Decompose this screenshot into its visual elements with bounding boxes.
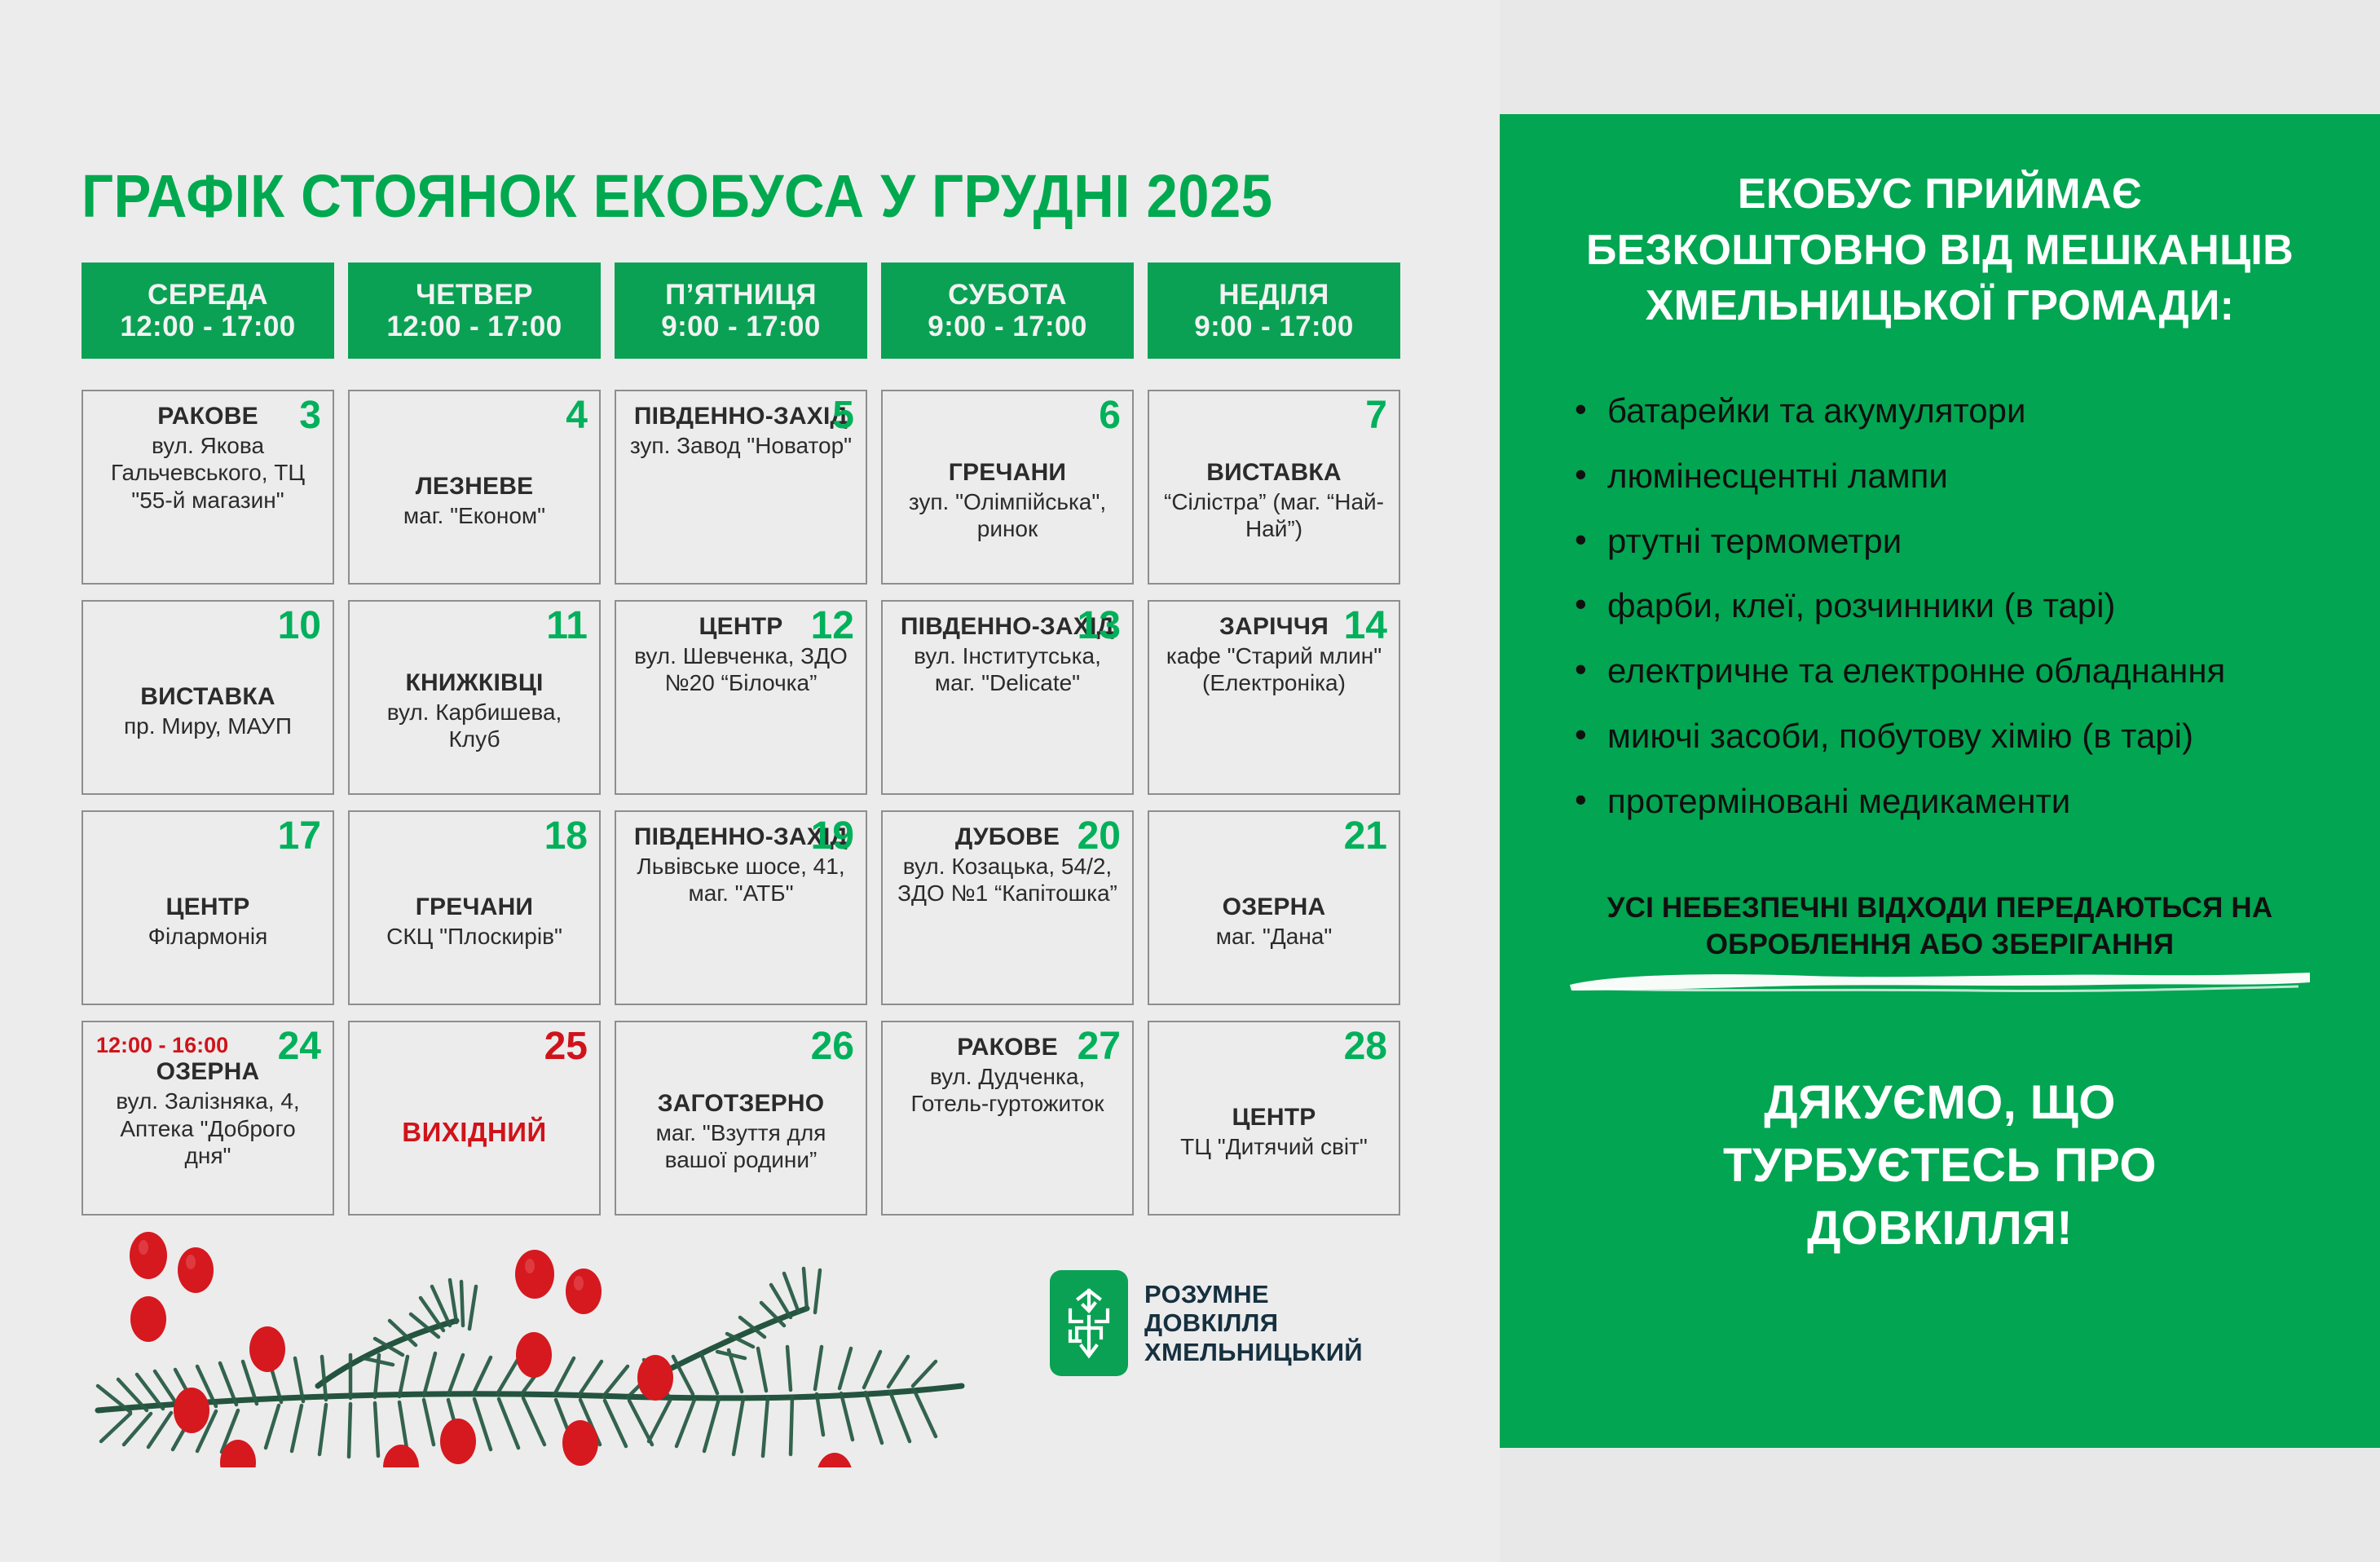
panel-heading-line-2: БЕЗКОШТОВНО ВІД МЕШКАНЦІВ [1547,223,2333,279]
logo-line-2: Довкілля [1144,1308,1363,1337]
cell-address: СКЦ "Плоскирів" [386,923,562,951]
calendar-cell-day-11[interactable]: 11КНИЖКІВЦІвул. Карбишева, Клуб [348,600,601,795]
calendar-cell-day-14[interactable]: 14ЗАРІЧЧЯкафе "Старий млин" (Електроніка… [1148,600,1400,795]
cell-address: вул. Дудченка, Готель-гуртожиток [896,1063,1119,1118]
logo-line-3: Хмельницький [1144,1338,1363,1366]
thanks-line-3: ДОВКІЛЛЯ! [1547,1197,2333,1260]
cell-address: вул. Шевченка, ЗДО №20 “Білочка” [629,642,853,697]
accepted-waste-item: миючі засоби, побутову хімію (в тарі) [1575,710,2333,762]
cell-day-number: 26 [811,1027,854,1066]
cell-district-name: ВИСТАВКА [140,683,275,711]
cell-district-name: ЦЕНТР [699,613,783,641]
cell-address: вул. Інститутська, маг. "Delicate" [896,642,1119,697]
cell-address: Філармонія [148,923,268,951]
cell-day-number: 3 [299,396,321,435]
day-header-name: П’ЯТНИЦЯ [665,279,817,311]
cell-address: “Сілістра” (маг. “Най-Най”) [1162,488,1386,543]
calendar-cell-day-19[interactable]: 19ПІВДЕННО-ЗАХІДЛьвівське шосе, 41, маг.… [615,810,867,1005]
day-header-name: ЧЕТВЕР [416,279,533,311]
brush-underline-decoration [1565,967,2315,993]
calendar-cell-day-27[interactable]: 27РАКОВЕвул. Дудченка, Готель-гуртожиток [881,1021,1134,1216]
cell-day-number: 13 [1078,607,1121,646]
cell-district-name: ЗАГОТЗЕРНО [658,1090,825,1118]
cell-address: пр. Миру, МАУП [124,713,292,740]
cell-day-number: 6 [1099,396,1121,435]
day-header-1: СЕРЕДА12:00 - 17:00 [82,263,334,359]
calendar-cell-day-4[interactable]: 4ЛЕЗНЕВЕмаг. "Економ" [348,390,601,585]
cell-address: маг. "Економ" [403,502,545,530]
cell-district-name: ПІВДЕННО-ЗАХІД [634,403,848,430]
calendar-grid: 3РАКОВЕвул. Якова Гальчевського, ТЦ "55-… [82,390,1429,1216]
cell-district-name: ЗАРІЧЧЯ [1219,613,1329,641]
cell-day-number: 10 [278,607,321,646]
cell-day-number: 28 [1344,1027,1387,1066]
cell-district-name: КНИЖКІВЦІ [405,669,543,697]
cell-district-name: РАКОВЕ [157,403,258,430]
calendar-cell-day-18[interactable]: 18ГРЕЧАНИСКЦ "Плоскирів" [348,810,601,1005]
day-header-5: НЕДІЛЯ9:00 - 17:00 [1148,263,1400,359]
day-header-name: НЕДІЛЯ [1219,279,1329,311]
day-header-hours: 9:00 - 17:00 [928,311,1086,342]
calendar-cell-day-7[interactable]: 7ВИСТАВКА“Сілістра” (маг. “Най-Най”) [1148,390,1400,585]
cell-day-number: 14 [1344,607,1387,646]
day-header-hours: 9:00 - 17:00 [1194,311,1353,342]
cell-district-name: ОЗЕРНА [1223,894,1326,921]
cell-day-off-label: ВИХІДНИЙ [402,1117,547,1148]
cell-address: зуп. "Олімпійська", ринок [896,488,1119,543]
cell-day-number: 20 [1078,817,1121,856]
calendar-cell-day-21[interactable]: 21ОЗЕРНАмаг. "Дана" [1148,810,1400,1005]
calendar-cell-day-26[interactable]: 26ЗАГОТЗЕРНОмаг. "Взуття для вашої родин… [615,1021,867,1216]
schedule-pane: ГРАФІК СТОЯНОК ЕКОБУСА У ГРУДНІ 2025 СЕР… [0,0,1500,1562]
accepted-waste-item: протерміновані медикаменти [1575,775,2333,827]
cell-district-name: РАКОВЕ [957,1034,1058,1061]
recycle-icon [1050,1270,1128,1376]
calendar-cell-day-3[interactable]: 3РАКОВЕвул. Якова Гальчевського, ТЦ "55-… [82,390,334,585]
disposal-note-line-1: УСІ НЕБЕЗПЕЧНІ ВІДХОДИ ПЕРЕДАЮТЬСЯ НА [1547,889,2333,927]
brand-logo: Розумне Довкілля Хмельницький [1050,1270,1363,1376]
cell-day-number: 24 [278,1027,321,1066]
accepted-waste-item: фарби, клеї, розчинники (в тарі) [1575,580,2333,632]
cell-address: кафе "Старий млин" (Електроніка) [1162,642,1386,697]
calendar-cell-day-13[interactable]: 13ПІВДЕННО-ЗАХІДвул. Інститутська, маг. … [881,600,1134,795]
calendar-cell-day-20[interactable]: 20ДУБОВЕвул. Козацька, 54/2, ЗДО №1 “Кап… [881,810,1134,1005]
cell-day-number: 11 [546,607,588,646]
calendar-cell-day-17[interactable]: 17ЦЕНТРФілармонія [82,810,334,1005]
cell-day-number: 12 [811,607,854,646]
cell-day-number: 18 [544,817,588,856]
cell-district-name: ЦЕНТР [1232,1104,1316,1132]
cell-district-name: ВИСТАВКА [1206,459,1342,487]
day-header-4: СУБОТА9:00 - 17:00 [881,263,1134,359]
panel-heading-line-3: ХМЕЛЬНИЦЬКОЇ ГРОМАДИ: [1547,278,2333,334]
cell-address: ТЦ "Дитячий світ" [1180,1133,1368,1161]
cell-hours: 12:00 - 16:00 [96,1034,228,1057]
accepted-waste-list: батарейки та акумуляторилюмінесцентні ла… [1547,385,2333,827]
cell-address: вул. Козацька, 54/2, ЗДО №1 “Капітошка” [896,853,1119,907]
cell-day-number: 27 [1078,1027,1121,1066]
calendar-cell-day-12[interactable]: 12ЦЕНТРвул. Шевченка, ЗДО №20 “Білочка” [615,600,867,795]
day-header-hours: 12:00 - 17:00 [386,311,562,342]
thanks-message: ДЯКУЄМО, ЩО ТУРБУЄТЕСЬ ПРО ДОВКІЛЛЯ! [1547,1071,2333,1260]
thanks-line-1: ДЯКУЄМО, ЩО [1547,1071,2333,1134]
brand-logo-text: Розумне Довкілля Хмельницький [1144,1280,1363,1366]
day-header-name: СУБОТА [948,279,1067,311]
cell-district-name: ГРЕЧАНИ [949,459,1066,487]
accepted-waste-item: ртутні термометри [1575,515,2333,567]
calendar-cell-day-24[interactable]: 12:00 - 16:0024ОЗЕРНАвул. Залізняка, 4, … [82,1021,334,1216]
panel-heading: ЕКОБУС ПРИЙМАЄ БЕЗКОШТОВНО ВІД МЕШКАНЦІВ… [1547,166,2333,334]
panel-heading-line-1: ЕКОБУС ПРИЙМАЄ [1547,166,2333,223]
cell-address: вул. Карбишева, Клуб [363,699,586,753]
accepted-waste-item: люмінесцентні лампи [1575,450,2333,502]
day-header-hours: 12:00 - 17:00 [120,311,295,342]
cell-address: зуп. Завод "Новатор" [630,432,852,460]
cell-district-name: ЦЕНТР [166,894,250,921]
cell-district-name: ГРЕЧАНИ [416,894,533,921]
thanks-line-2: ТУРБУЄТЕСЬ ПРО [1547,1134,2333,1197]
cell-district-name: ОЗЕРНА [156,1058,260,1086]
cell-address: вул. Залізняка, 4, Аптека "Доброго дня" [96,1088,320,1170]
calendar-cell-day-28[interactable]: 28ЦЕНТРТЦ "Дитячий світ" [1148,1021,1400,1216]
disposal-note-line-2: ОБРОБЛЕННЯ АБО ЗБЕРІГАННЯ [1547,926,2333,964]
cell-address: маг. "Взуття для вашої родини” [629,1119,853,1174]
day-header-row: СЕРЕДА12:00 - 17:00ЧЕТВЕР12:00 - 17:00П’… [82,263,1429,359]
cell-day-number: 5 [832,396,854,435]
disposal-note: УСІ НЕБЕЗПЕЧНІ ВІДХОДИ ПЕРЕДАЮТЬСЯ НА ОБ… [1547,889,2333,964]
accepted-waste-panel: ЕКОБУС ПРИЙМАЄ БЕЗКОШТОВНО ВІД МЕШКАНЦІВ… [1500,114,2380,1448]
day-header-2: ЧЕТВЕР12:00 - 17:00 [348,263,601,359]
cell-district-name: ДУБОВЕ [955,823,1060,851]
day-header-3: П’ЯТНИЦЯ9:00 - 17:00 [615,263,867,359]
cell-day-number: 21 [1344,817,1387,856]
cell-address: маг. "Дана" [1216,923,1333,951]
poster-root: ГРАФІК СТОЯНОК ЕКОБУСА У ГРУДНІ 2025 СЕР… [0,0,2380,1562]
calendar-cell-day-10[interactable]: 10ВИСТАВКАпр. Миру, МАУП [82,600,334,795]
day-header-name: СЕРЕДА [148,279,268,311]
cell-day-number: 7 [1365,396,1387,435]
page-title: ГРАФІК СТОЯНОК ЕКОБУСА У ГРУДНІ 2025 [82,161,1272,231]
calendar-cell-day-6[interactable]: 6ГРЕЧАНИзуп. "Олімпійська", ринок [881,390,1134,585]
accepted-waste-item: електричне та електронне обладнання [1575,645,2333,697]
cell-address: вул. Якова Гальчевського, ТЦ "55-й магаз… [96,432,320,514]
cell-day-number: 25 [544,1027,588,1066]
calendar-cell-day-5[interactable]: 5ПІВДЕННО-ЗАХІДзуп. Завод "Новатор" [615,390,867,585]
fir-branch-decoration [73,1223,986,1467]
calendar-cell-day-25[interactable]: 25ВИХІДНИЙ [348,1021,601,1216]
cell-day-number: 19 [811,817,854,856]
logo-line-1: Розумне [1144,1280,1363,1308]
cell-address: Львівське шосе, 41, маг. "АТБ" [629,853,853,907]
cell-day-number: 4 [566,396,588,435]
cell-district-name: ЛЕЗНЕВЕ [416,473,534,501]
day-header-hours: 9:00 - 17:00 [661,311,820,342]
accepted-waste-item: батарейки та акумулятори [1575,385,2333,437]
cell-day-number: 17 [278,817,321,856]
